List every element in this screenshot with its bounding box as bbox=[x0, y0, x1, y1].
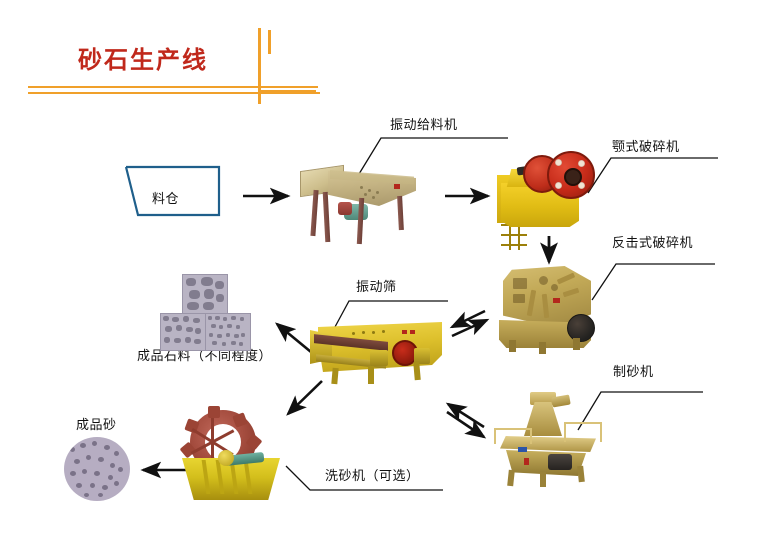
label-feeder: 振动给料机 bbox=[390, 114, 458, 133]
arrow-screen-to-sandmaker bbox=[447, 412, 484, 437]
machine-impact-crusher bbox=[495, 262, 607, 354]
label-washer: 洗砂机（可选） bbox=[325, 465, 420, 484]
feeder-leg bbox=[397, 196, 404, 230]
sandmaker-badge bbox=[524, 458, 529, 465]
page-title: 砂石生产线 bbox=[78, 40, 208, 75]
machine-sand-washer bbox=[180, 410, 290, 500]
sandmaker-nameplate bbox=[518, 447, 527, 452]
feeder-leg bbox=[357, 198, 364, 244]
title-rule-vertical-main bbox=[258, 28, 261, 104]
washer-hub bbox=[218, 450, 234, 466]
product-stone-right bbox=[205, 313, 251, 351]
machine-sand-maker bbox=[490, 392, 606, 487]
label-jaw: 颚式破碎机 bbox=[612, 136, 680, 155]
label-sand: 成品砂 bbox=[76, 414, 117, 433]
sandmaker-inlet bbox=[551, 395, 570, 408]
product-finished-sand bbox=[64, 437, 130, 501]
sandmaker-motor bbox=[548, 454, 572, 470]
title-rule-top bbox=[28, 86, 318, 88]
product-stone-top bbox=[182, 274, 228, 314]
impact-pulley bbox=[567, 314, 595, 342]
label-sandmaker: 制砂机 bbox=[613, 361, 654, 380]
sandmaker-railing bbox=[564, 422, 602, 442]
jaw-flywheel-front bbox=[547, 151, 595, 199]
sandmaker-base bbox=[506, 450, 586, 476]
label-hopper: 料仓 bbox=[152, 188, 179, 207]
arrow-screen-to-stones bbox=[277, 324, 311, 352]
screen-motor-left bbox=[370, 350, 388, 366]
title-rule-vertical-small bbox=[268, 30, 271, 54]
label-screen: 振动筛 bbox=[356, 276, 397, 295]
feeder-badge bbox=[394, 184, 400, 189]
arrow-screen-to-impact bbox=[452, 320, 487, 336]
impact-badge bbox=[553, 298, 560, 303]
product-stone-left bbox=[160, 313, 206, 351]
arrow-impact-to-screen bbox=[452, 311, 485, 327]
diagram-canvas: 砂石生产线 bbox=[0, 0, 777, 540]
title-rule-right bbox=[258, 90, 316, 92]
label-impact: 反击式破碎机 bbox=[612, 232, 693, 251]
arrow-sandmaker-to-screen bbox=[448, 404, 484, 427]
feeder-leg bbox=[310, 190, 318, 236]
sandmaker-railing bbox=[494, 428, 532, 444]
machine-jaw-crusher bbox=[495, 145, 605, 235]
feeder-leg bbox=[323, 192, 331, 242]
machine-vibrating-screen bbox=[310, 316, 450, 390]
machine-vibrating-feeder bbox=[300, 160, 418, 245]
feeder-motor-secondary bbox=[338, 202, 352, 215]
title-rule-bottom bbox=[28, 92, 320, 94]
